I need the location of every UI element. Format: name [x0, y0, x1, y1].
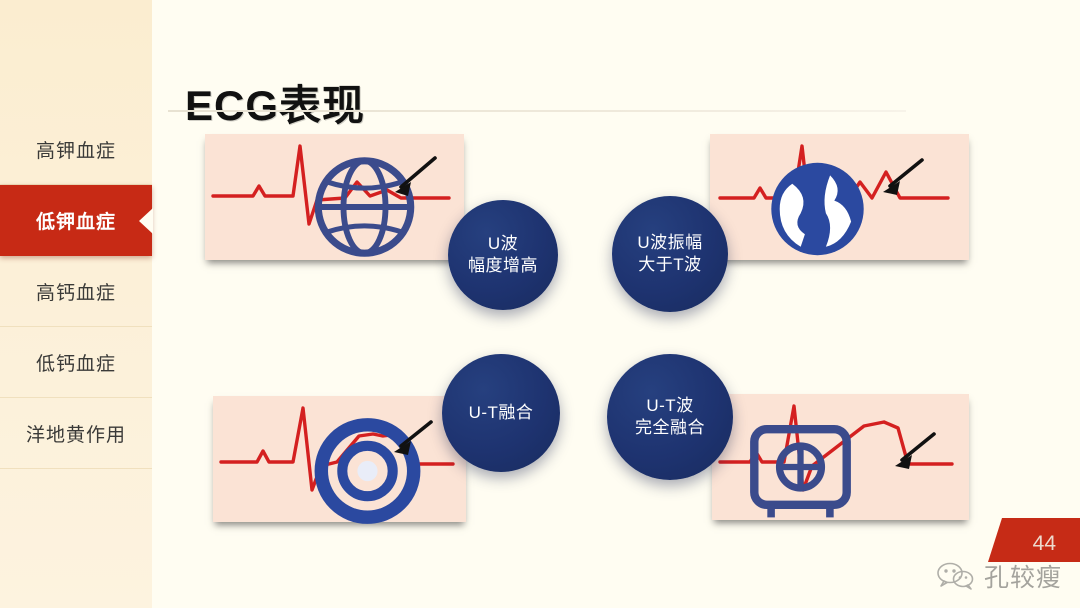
- page-number: 44: [1033, 532, 1056, 556]
- sidebar-item-digitalis-effect[interactable]: 洋地黄作用: [0, 398, 152, 469]
- sidebar-item-hypocalcemia[interactable]: 低钙血症: [0, 327, 152, 398]
- sidebar-item-label: 高钾血症: [36, 136, 116, 163]
- active-pointer-notch: [139, 208, 153, 234]
- slide-canvas: 高钾血症 低钾血症 高钙血症 低钙血症 洋地黄作用 ECG表现: [0, 0, 1080, 608]
- sidebar-item-hypokalemia[interactable]: 低钾血症: [0, 185, 152, 256]
- ecg-panel-ut-fusion: [213, 396, 466, 522]
- bubble-text: U波振幅 大于T波: [637, 232, 702, 277]
- ecg-panel-u-greater-than-t: [710, 134, 969, 260]
- sidebar-item-hyperkalemia[interactable]: 高钾血症: [0, 114, 152, 185]
- bubble-line: 幅度增高: [468, 255, 538, 277]
- bubble-line: 完全融合: [635, 417, 705, 439]
- sidebar-item-label: 低钾血症: [36, 207, 116, 234]
- callout-bubble-complete-fusion[interactable]: U-T波 完全融合: [607, 354, 733, 480]
- callout-bubble-u-wave-amplitude[interactable]: U波 幅度增高: [448, 200, 558, 310]
- bubble-text: U-T融合: [469, 402, 534, 424]
- bubble-line: U波: [468, 233, 538, 255]
- sidebar-item-hypercalcemia[interactable]: 高钙血症: [0, 256, 152, 327]
- ecg-panel-complete-fusion: [712, 394, 969, 520]
- bubble-line: U-T融合: [469, 402, 534, 424]
- callout-bubble-ut-fusion[interactable]: U-T融合: [442, 354, 560, 472]
- bubble-text: U波 幅度增高: [468, 233, 538, 278]
- page-title: ECG表现: [185, 72, 365, 133]
- sidebar-nav: 高钾血症 低钾血症 高钙血症 低钙血症 洋地黄作用: [0, 0, 152, 608]
- watermark-text: 孔较瘦: [984, 558, 1062, 594]
- wechat-icon: [936, 561, 976, 591]
- bubble-line: U波振幅: [637, 232, 702, 254]
- bubble-line: 大于T波: [637, 254, 702, 276]
- ecg-panel-u-wave-amplitude: [205, 134, 464, 260]
- bubble-line: U-T波: [635, 395, 705, 417]
- sidebar-item-label: 低钙血症: [36, 349, 116, 376]
- callout-bubble-u-greater-than-t[interactable]: U波振幅 大于T波: [612, 196, 728, 312]
- watermark: 孔较瘦: [936, 558, 1062, 594]
- bubble-text: U-T波 完全融合: [635, 395, 705, 440]
- sidebar-item-label: 高钙血症: [36, 278, 116, 305]
- title-divider: [168, 110, 906, 112]
- sidebar-item-label: 洋地黄作用: [26, 420, 126, 447]
